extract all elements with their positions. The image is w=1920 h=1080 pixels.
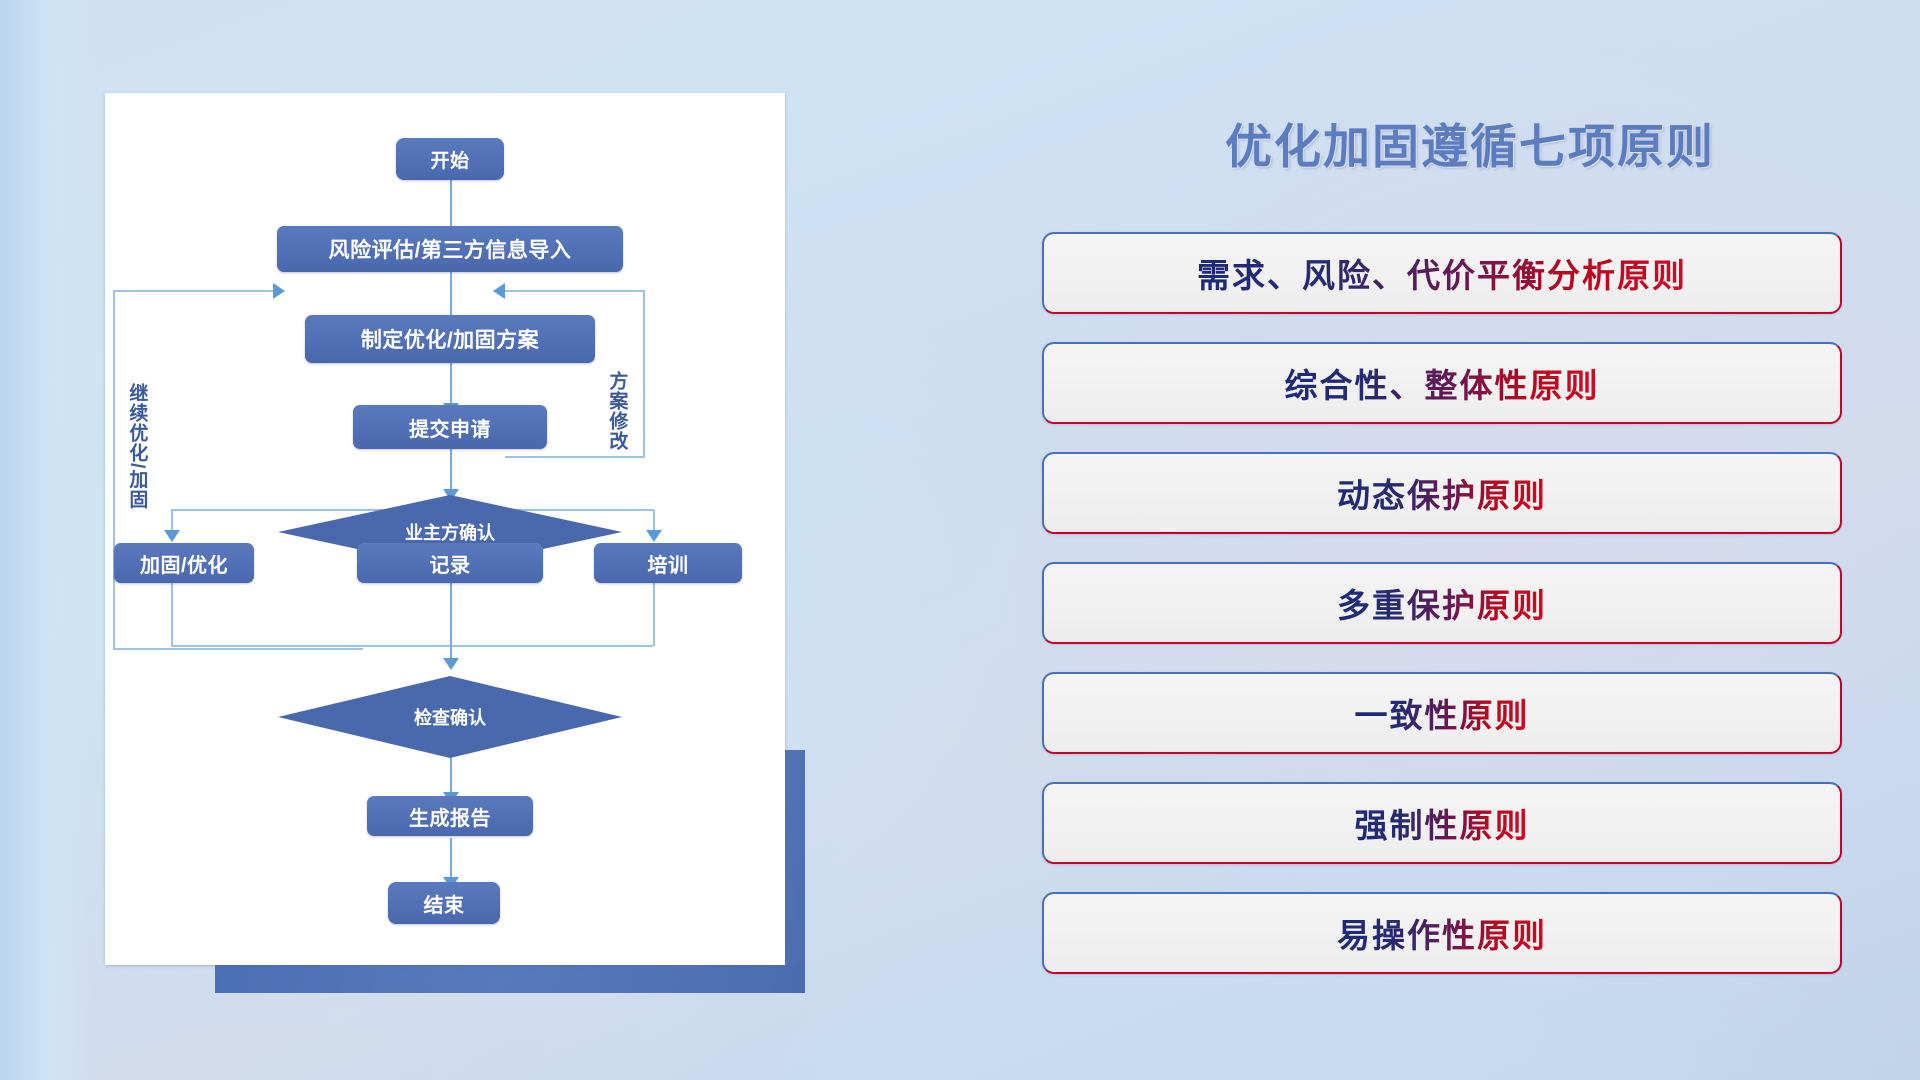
principle-item-2[interactable]: 综合性、整体性原则 — [1042, 342, 1842, 424]
node-record[interactable]: 记录 — [357, 543, 543, 583]
node-training[interactable]: 培训 — [594, 543, 742, 583]
edge-record-down — [450, 571, 452, 664]
principle-item-6[interactable]: 强制性原则 — [1042, 782, 1842, 864]
principles-panel: 优化加固遵循七项原则 需求、风险、代价平衡分析原则 综合性、整体性原则 动态保护… — [1020, 0, 1920, 1080]
node-check-confirm[interactable]: 检查确认 — [278, 676, 622, 758]
edge-loop-left-vertical — [113, 290, 115, 650]
principle-label: 动态保护原则 — [1337, 469, 1547, 517]
principle-label: 综合性、整体性原则 — [1285, 359, 1600, 407]
arrow-loop-right-to-plan — [493, 283, 505, 299]
node-risk-assessment[interactable]: 风险评估/第三方信息导入 — [277, 226, 623, 272]
edge-label-continue-optimize: 继续优化/加固 — [127, 383, 146, 509]
edge-loop-right-bottom — [505, 456, 645, 458]
principle-item-3[interactable]: 动态保护原则 — [1042, 452, 1842, 534]
edge-loop-left-top — [113, 290, 279, 292]
node-start[interactable]: 开始 — [396, 138, 504, 180]
card-decor-frame-bottom — [215, 965, 805, 993]
node-report[interactable]: 生成报告 — [367, 796, 533, 836]
edge-start-to-risk — [450, 171, 452, 233]
principle-label: 强制性原则 — [1355, 799, 1530, 847]
principle-item-4[interactable]: 多重保护原则 — [1042, 562, 1842, 644]
arrow-to-training — [646, 530, 662, 542]
flowchart-card: 继续优化/加固 方案修改 开始 风险评估/第三方信息导入 制定优化/加固方案 提… — [105, 93, 785, 965]
edge-merge-bar — [171, 645, 653, 647]
principle-label: 易操作性原则 — [1337, 909, 1547, 957]
edge-loop-right-top — [505, 290, 645, 292]
node-submit[interactable]: 提交申请 — [353, 405, 547, 449]
principle-label: 需求、风险、代价平衡分析原则 — [1197, 249, 1687, 297]
principles-list: 需求、风险、代价平衡分析原则 综合性、整体性原则 动态保护原则 多重保护原则 一… — [1042, 232, 1842, 1002]
principle-label: 多重保护原则 — [1337, 579, 1547, 627]
edge-loop-left-bottom — [113, 648, 363, 650]
arrow-loop-left-to-plan — [273, 283, 285, 299]
principle-item-5[interactable]: 一致性原则 — [1042, 672, 1842, 754]
principle-item-7[interactable]: 易操作性原则 — [1042, 892, 1842, 974]
principle-item-1[interactable]: 需求、风险、代价平衡分析原则 — [1042, 232, 1842, 314]
arrow-to-reinforce — [164, 530, 180, 542]
arrow-to-check-confirm — [443, 658, 459, 670]
edge-label-plan-revision: 方案修改 — [607, 371, 626, 451]
principle-label: 一致性原则 — [1355, 689, 1530, 737]
slide-canvas: 继续优化/加固 方案修改 开始 风险评估/第三方信息导入 制定优化/加固方案 提… — [0, 0, 1920, 1080]
node-end[interactable]: 结束 — [388, 882, 500, 924]
node-plan[interactable]: 制定优化/加固方案 — [305, 315, 595, 363]
node-reinforce[interactable]: 加固/优化 — [114, 543, 254, 583]
page-title: 优化加固遵循七项原则 — [1020, 108, 1920, 177]
edge-loop-right-vertical — [643, 290, 645, 457]
